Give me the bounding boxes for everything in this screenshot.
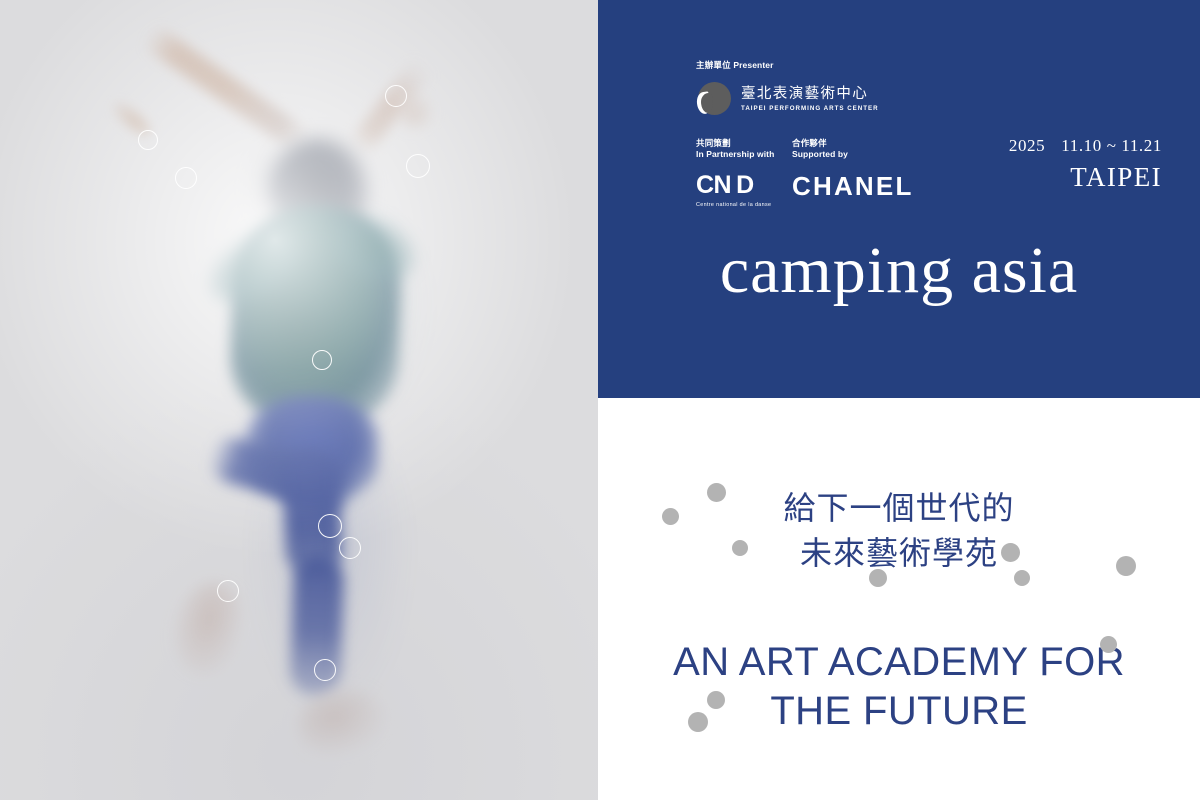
credits-block: 主辦單位 Presenter 臺北表演藝術中心 TAIPEI PERFORMIN… [696, 60, 879, 117]
joint-marker [138, 130, 158, 150]
joint-marker [314, 659, 336, 681]
joint-marker [175, 167, 197, 189]
decorative-dot [732, 540, 748, 556]
joint-marker [406, 154, 430, 178]
cnd-logo-d: D [736, 171, 754, 199]
joint-marker [339, 537, 361, 559]
decorative-dot [707, 483, 726, 502]
cnd-logo-cn: CN [696, 171, 731, 199]
cnd-label: 共同策劃 In Partnership with [696, 138, 792, 161]
joint-marker [318, 514, 342, 538]
decorative-dot [1014, 570, 1030, 586]
decorative-dot [1116, 556, 1136, 576]
cnd-logo-subtitle: Centre national de la danse [696, 202, 792, 208]
dancer-photograph [0, 0, 598, 800]
festival-city: TAIPEI [952, 162, 1162, 193]
poster-info-panel: 主辦單位 Presenter 臺北表演藝術中心 TAIPEI PERFORMIN… [598, 0, 1200, 800]
cnd-logo: CND [696, 173, 792, 198]
tagline-zh-line2: 未來藝術學苑 [598, 531, 1200, 576]
festival-date-range: 11.10 ~ 11.21 [1061, 136, 1162, 156]
tpac-name-en: TAIPEI PERFORMING ARTS CENTER [741, 105, 879, 112]
tpac-name-zh: 臺北表演藝術中心 [741, 87, 879, 103]
tpac-wordmark: 臺北表演藝術中心 TAIPEI PERFORMING ARTS CENTER [741, 87, 879, 113]
joint-marker [312, 350, 332, 370]
presenter-logo-row: 臺北表演藝術中心 TAIPEI PERFORMING ARTS CENTER [696, 81, 879, 117]
presenter-label-en: Presenter [733, 60, 773, 70]
festival-dates: 2025 11.10 ~ 11.21 TAIPEI [952, 136, 1162, 193]
photo-light-falloff [0, 0, 598, 800]
joint-marker [385, 85, 407, 107]
chanel-label-zh: 合作夥伴 [792, 138, 827, 148]
festival-year: 2025 [1009, 136, 1045, 156]
decorative-dot [662, 508, 679, 525]
presenter-label-zh: 主辦單位 [696, 60, 731, 70]
presenter-label: 主辦單位 Presenter [696, 60, 879, 71]
camping-asia-poster: 主辦單位 Presenter 臺北表演藝術中心 TAIPEI PERFORMIN… [0, 0, 1200, 800]
partner-cnd: 共同策劃 In Partnership with CND Centre nati… [696, 138, 792, 208]
tagline-en-line1: AN ART ACADEMY FOR [673, 640, 1125, 684]
decorative-dot [869, 569, 887, 587]
cnd-label-zh: 共同策劃 [696, 138, 731, 148]
tagline-zh: 給下一個世代的 未來藝術學苑 [598, 486, 1200, 577]
chanel-label-en: Supported by [792, 149, 848, 159]
white-tagline-block [598, 398, 1200, 800]
tpac-circle-logo-icon [696, 81, 732, 117]
decorative-dot [1001, 543, 1020, 562]
tagline-en-line2: THE FUTURE [598, 687, 1200, 736]
cnd-label-en: In Partnership with [696, 149, 774, 159]
joint-marker [217, 580, 239, 602]
page-title: camping asia [598, 238, 1200, 304]
tagline-zh-line1: 給下一個世代的 [783, 490, 1014, 526]
decorative-dot [707, 691, 725, 709]
date-line: 2025 11.10 ~ 11.21 [952, 136, 1162, 156]
decorative-dot [1100, 636, 1117, 653]
decorative-dot [688, 712, 708, 732]
